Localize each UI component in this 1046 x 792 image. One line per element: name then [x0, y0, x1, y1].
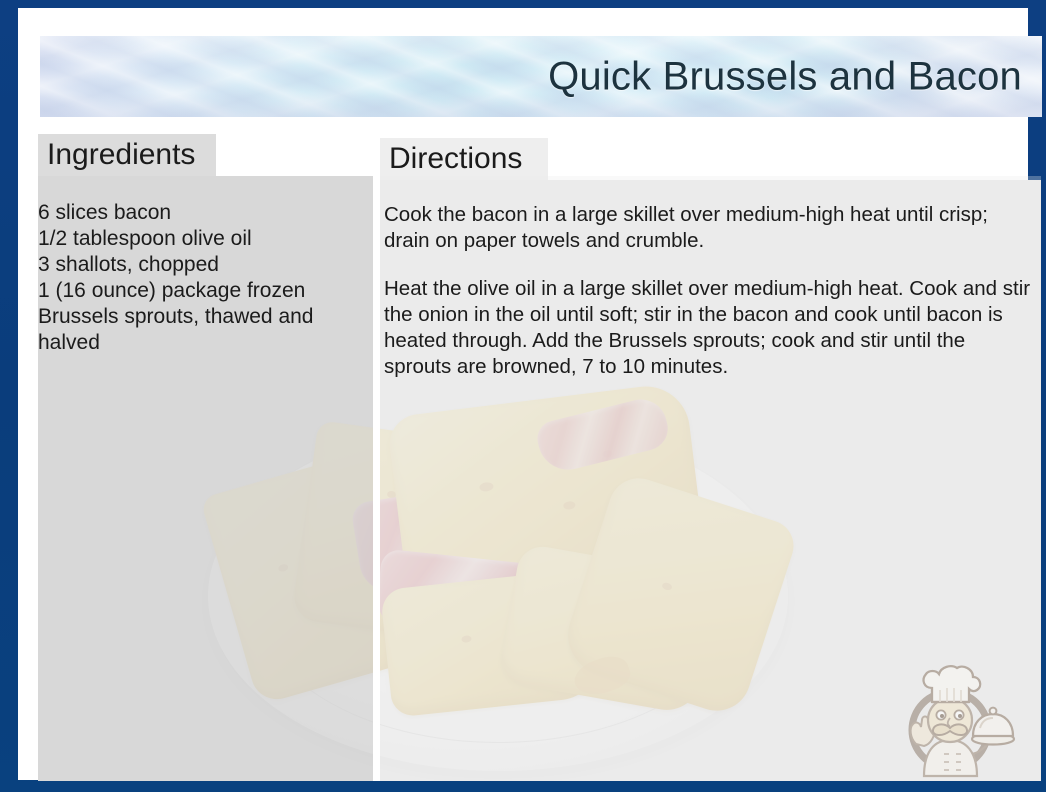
- ingredients-list: 6 slices bacon 1/2 tablespoon olive oil …: [38, 200, 358, 356]
- chef-mascot-icon: [894, 658, 1016, 778]
- recipe-slide: Quick Brussels and Bacon Ingredients Dir…: [0, 0, 1046, 792]
- cloche-icon: [972, 708, 1014, 745]
- chef-coat: [924, 740, 977, 776]
- title-banner: Quick Brussels and Bacon: [40, 36, 1042, 117]
- chef-face: [928, 698, 972, 742]
- directions-steps: Cook the bacon in a large skillet over m…: [384, 202, 1034, 380]
- panel-gutter: [373, 176, 380, 781]
- slide-canvas: Quick Brussels and Bacon Ingredients Dir…: [18, 8, 1028, 780]
- list-item: 3 shallots, chopped: [38, 252, 358, 278]
- directions-heading-block: Directions: [380, 138, 548, 180]
- direction-step: Heat the olive oil in a large skillet ov…: [384, 276, 1034, 380]
- chef-mascot-logo: [894, 658, 1016, 778]
- direction-step: Cook the bacon in a large skillet over m…: [384, 202, 1034, 254]
- page-title: Quick Brussels and Bacon: [548, 54, 1022, 99]
- list-item: 1/2 tablespoon olive oil: [38, 226, 358, 252]
- list-item: 1 (16 ounce) package frozen Brussels spr…: [38, 278, 358, 356]
- directions-heading: Directions: [389, 144, 522, 174]
- ingredients-heading-block: Ingredients: [38, 134, 216, 176]
- list-item: 6 slices bacon: [38, 200, 358, 226]
- ingredients-heading: Ingredients: [47, 140, 195, 170]
